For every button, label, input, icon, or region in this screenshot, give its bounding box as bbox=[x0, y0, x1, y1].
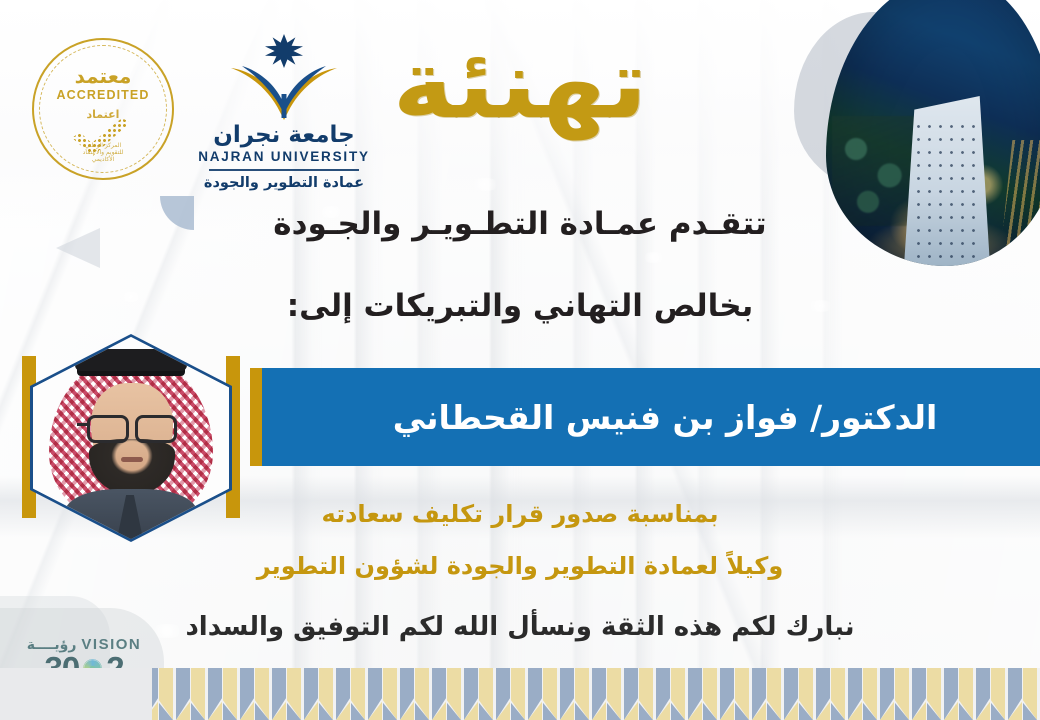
seal-arabic-label: معتمد bbox=[32, 64, 174, 88]
seal-authority-line-1: المركز الوطني bbox=[32, 142, 174, 149]
body-line-3: نبارك لكم هذه الثقة ونسأل الله لكم التوف… bbox=[0, 612, 1040, 642]
seal-authority-line-3: الأكاديمي bbox=[32, 156, 174, 163]
book-swoosh-icon bbox=[228, 64, 340, 120]
glasses-icon bbox=[85, 415, 179, 437]
decorative-pattern-band bbox=[152, 668, 1040, 720]
pattern-cell bbox=[592, 668, 622, 720]
bottom-band-left-base bbox=[0, 668, 152, 720]
honoree-name-banner: الدكتور/ فواز بن فنيس القحطاني bbox=[262, 368, 1040, 466]
glasses-bridge bbox=[77, 423, 87, 426]
seal-authority-line-2: للتقويم والاعتماد bbox=[32, 149, 174, 156]
pattern-cell bbox=[240, 668, 270, 720]
body-line-2: وكيلاً لعمادة التطوير والجودة لشؤون التط… bbox=[0, 552, 1040, 580]
pattern-cell bbox=[944, 668, 974, 720]
banner-gold-edge bbox=[250, 368, 262, 466]
body-line-1: بمناسبة صدور قرار تكليف سعادته bbox=[0, 500, 1040, 528]
university-name-arabic: جامعة نجران bbox=[196, 122, 372, 148]
pattern-cell bbox=[400, 668, 430, 720]
university-name-english: NAJRAN UNIVERSITY bbox=[196, 149, 372, 164]
pattern-cell bbox=[816, 668, 846, 720]
campus-photo-cluster bbox=[806, 0, 1040, 286]
pattern-cell bbox=[688, 668, 718, 720]
honoree-name: الدكتور/ فواز بن فنيس القحطاني bbox=[393, 398, 938, 437]
pattern-cell bbox=[880, 668, 910, 720]
pattern-cell bbox=[464, 668, 494, 720]
pattern-cell bbox=[624, 668, 654, 720]
deanship-name: عمادة التطوير والجودة bbox=[196, 175, 372, 191]
pattern-cell bbox=[336, 668, 366, 720]
pattern-cell bbox=[720, 668, 750, 720]
pattern-cell bbox=[752, 668, 782, 720]
seal-english-label: ACCREDITED bbox=[32, 88, 174, 102]
pattern-cell bbox=[912, 668, 942, 720]
pattern-cell bbox=[528, 668, 558, 720]
pattern-cell bbox=[976, 668, 1006, 720]
congratulation-poster: معتمد ACCREDITED اعتماد المركز الوطني لل… bbox=[0, 0, 1040, 720]
pattern-cell bbox=[176, 668, 206, 720]
headline-line-2: بخالص التهاني والتبريكات إلى: bbox=[0, 288, 1040, 324]
accreditation-seal: معتمد ACCREDITED اعتماد المركز الوطني لل… bbox=[32, 38, 174, 180]
pattern-cell bbox=[848, 668, 878, 720]
ceiling-light bbox=[642, 252, 666, 263]
pattern-cell bbox=[152, 668, 174, 720]
pattern-cell bbox=[272, 668, 302, 720]
pattern-cell bbox=[304, 668, 334, 720]
star-burst-icon bbox=[263, 34, 305, 68]
pattern-cell bbox=[656, 668, 686, 720]
logo-divider bbox=[209, 169, 359, 171]
pattern-cell bbox=[560, 668, 590, 720]
najran-university-logo: جامعة نجران NAJRAN UNIVERSITY عمادة التط… bbox=[196, 34, 372, 191]
portrait-agal bbox=[75, 349, 187, 371]
vision-wordmark-row: VISION رؤيــــة bbox=[24, 636, 144, 653]
pattern-cell bbox=[432, 668, 462, 720]
pattern-cell bbox=[1008, 668, 1038, 720]
ceiling-light bbox=[470, 178, 500, 191]
pattern-cell bbox=[208, 668, 238, 720]
pattern-cell bbox=[784, 668, 814, 720]
pattern-cell bbox=[368, 668, 398, 720]
campus-palm-lights bbox=[1000, 140, 1040, 260]
seal-mark-label: اعتماد bbox=[32, 108, 174, 121]
portrait-mouth bbox=[121, 457, 143, 462]
headline-line-1: تتقـدم عمـادة التطـويـر والجـودة bbox=[0, 206, 1040, 242]
pattern-cell bbox=[496, 668, 526, 720]
